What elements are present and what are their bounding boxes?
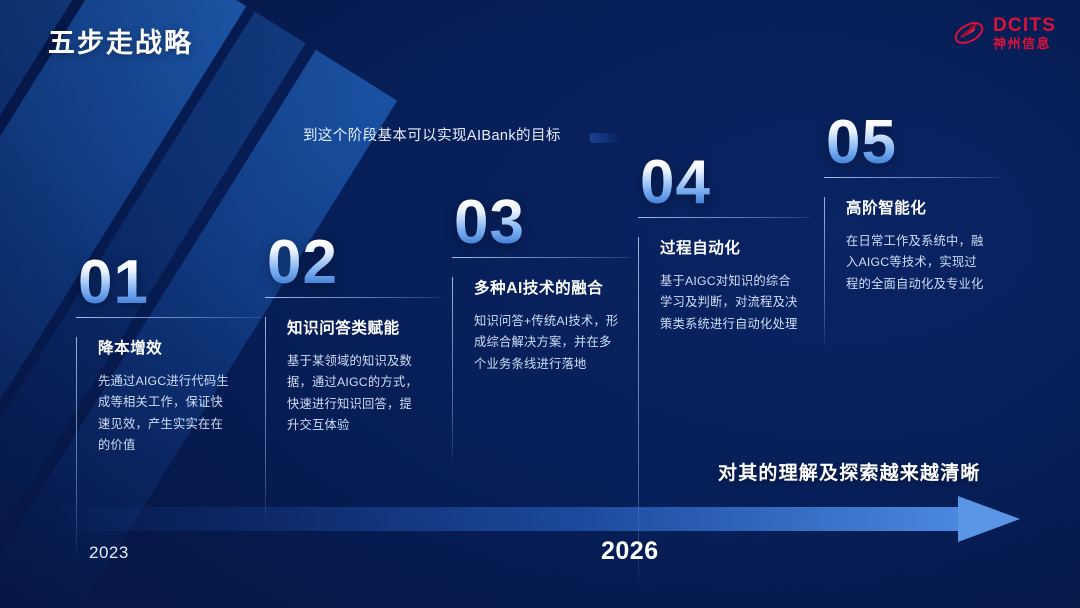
logo-text-cn: 神州信息 bbox=[993, 37, 1056, 50]
timeline-year-end: 2026 bbox=[601, 537, 659, 566]
step-card-05[interactable]: 05 高阶智能化 在日常工作及系统中，融入AIGC等技术，实现过程的全面自动化及… bbox=[824, 118, 1000, 295]
step-number-03: 03 bbox=[454, 198, 630, 249]
step-body-03: 多种AI技术的融合 知识问答+传统AI技术，形成综合解决方案，并在多个业务条线进… bbox=[452, 258, 630, 376]
step-title-03: 多种AI技术的融合 bbox=[474, 276, 630, 298]
step-number-02: 02 bbox=[267, 238, 441, 289]
page-title: 五步走战略 bbox=[48, 21, 193, 60]
step-card-01[interactable]: 01 降本增效 先通过AIGC进行代码生成等相关工作，保证快速见效，产生实实在在… bbox=[76, 258, 262, 457]
step-number-04: 04 bbox=[640, 158, 810, 209]
stripe-1 bbox=[0, 0, 46, 475]
step-body-02: 知识问答类赋能 基于某领域的知识及数据，通过AIGC的方式，快速进行知识回答，提… bbox=[265, 298, 441, 437]
step-number-05: 05 bbox=[826, 118, 1000, 169]
timeline-arrow-label: 对其的理解及探索越来越清晰 bbox=[718, 458, 981, 485]
logo-text: DCITS 神州信息 bbox=[993, 16, 1056, 50]
logo-text-en: DCITS bbox=[993, 16, 1056, 35]
brand-logo: DCITS 神州信息 bbox=[952, 16, 1056, 50]
step-card-04[interactable]: 04 过程自动化 基于AIGC对知识的综合学习及判断，对流程及决策类系统进行自动… bbox=[638, 158, 810, 335]
step-body-04: 过程自动化 基于AIGC对知识的综合学习及判断，对流程及决策类系统进行自动化处理 bbox=[638, 218, 810, 336]
slide: 五步走战略 DCITS 神州信息 到这个阶段基本可以实现AIBank的目标 01… bbox=[0, 0, 1080, 608]
step-number-01: 01 bbox=[78, 258, 262, 309]
step-body-01: 降本增效 先通过AIGC进行代码生成等相关工作，保证快速见效，产生实实在在的价值 bbox=[76, 318, 262, 457]
timeline-arrow bbox=[60, 496, 1020, 542]
step-bracket-left-02 bbox=[265, 317, 266, 523]
timeline-arrow-head-icon bbox=[958, 496, 1020, 542]
timeline-year-start: 2023 bbox=[89, 543, 129, 563]
step-card-02[interactable]: 02 知识问答类赋能 基于某领域的知识及数据，通过AIGC的方式，快速进行知识回… bbox=[265, 238, 441, 437]
step-desc-04: 基于AIGC对知识的综合学习及判断，对流程及决策类系统进行自动化处理 bbox=[660, 271, 800, 336]
step-title-01: 降本增效 bbox=[98, 336, 262, 358]
step-card-03[interactable]: 03 多种AI技术的融合 知识问答+传统AI技术，形成综合解决方案，并在多个业务… bbox=[452, 198, 630, 375]
step-title-04: 过程自动化 bbox=[660, 236, 810, 258]
annotation-fade-decoration bbox=[590, 133, 620, 143]
annotation-text: 到这个阶段基本可以实现AIBank的目标 bbox=[303, 124, 561, 145]
timeline-arrow-bar bbox=[60, 507, 960, 531]
step-desc-01: 先通过AIGC进行代码生成等相关工作，保证快速见效，产生实实在在的价值 bbox=[98, 371, 230, 457]
step-bracket-left-05 bbox=[824, 197, 825, 347]
step-desc-05: 在日常工作及系统中，融入AIGC等技术，实现过程的全面自动化及专业化 bbox=[846, 231, 988, 296]
step-desc-02: 基于某领域的知识及数据，通过AIGC的方式，快速进行知识回答，提升交互体验 bbox=[287, 351, 422, 437]
swirl-icon bbox=[952, 16, 986, 50]
step-bracket-left-03 bbox=[452, 277, 453, 462]
step-desc-03: 知识问答+传统AI技术，形成综合解决方案，并在多个业务条线进行落地 bbox=[474, 311, 620, 376]
step-title-05: 高阶智能化 bbox=[846, 196, 1000, 218]
step-body-05: 高阶智能化 在日常工作及系统中，融入AIGC等技术，实现过程的全面自动化及专业化 bbox=[824, 178, 1000, 296]
step-title-02: 知识问答类赋能 bbox=[287, 316, 441, 338]
